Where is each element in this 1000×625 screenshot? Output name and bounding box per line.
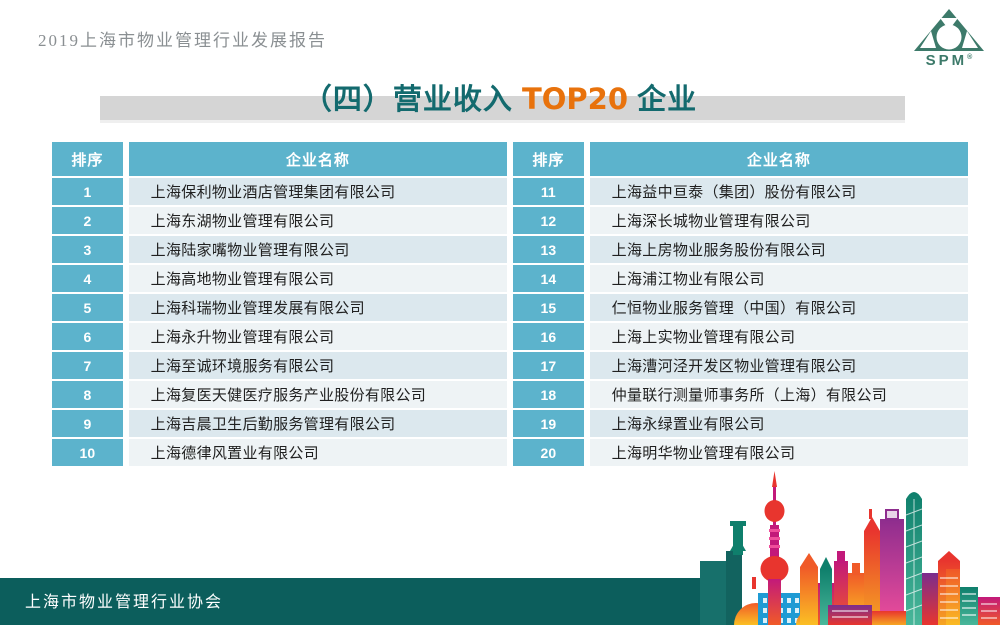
spm-triangle-icon (910, 6, 988, 54)
table-row: 6上海永升物业管理有限公司 (52, 323, 507, 350)
cell-rank: 2 (52, 207, 129, 234)
cell-company-name: 上海复医天健医疗服务产业股份有限公司 (129, 381, 507, 408)
cell-company-name: 上海至诚环境服务有限公司 (129, 352, 507, 379)
table-row: 16上海上实物业管理有限公司 (513, 323, 968, 350)
table-row: 4上海高地物业管理有限公司 (52, 265, 507, 292)
table-row: 18仲量联行测量师事务所（上海）有限公司 (513, 381, 968, 408)
table-row: 7上海至诚环境服务有限公司 (52, 352, 507, 379)
table-row: 2上海东湖物业管理有限公司 (52, 207, 507, 234)
table-row: 12上海深长城物业管理有限公司 (513, 207, 968, 234)
cell-rank: 3 (52, 236, 129, 263)
registered-mark: ® (967, 54, 972, 61)
column-header-rank: 排序 (513, 142, 590, 176)
cell-company-name: 上海东湖物业管理有限公司 (129, 207, 507, 234)
cell-rank: 5 (52, 294, 129, 321)
table-row: 17上海漕河泾开发区物业管理有限公司 (513, 352, 968, 379)
page-title-suffix: 企业 (628, 84, 697, 116)
cell-rank: 12 (513, 207, 590, 234)
table-right-body: 11上海益中亘泰（集团）股份有限公司12上海深长城物业管理有限公司13上海上房物… (513, 178, 968, 466)
slide-running-header: 2019上海市物业管理行业发展报告 (38, 26, 327, 51)
cell-rank: 14 (513, 265, 590, 292)
cell-company-name: 上海明华物业管理有限公司 (590, 439, 968, 466)
cell-company-name: 上海益中亘泰（集团）股份有限公司 (590, 178, 968, 205)
cell-rank: 10 (52, 439, 129, 466)
cell-company-name: 上海德律风置业有限公司 (129, 439, 507, 466)
spm-logo: SPM® (910, 6, 988, 72)
cell-rank: 7 (52, 352, 129, 379)
table-row: 20上海明华物业管理有限公司 (513, 439, 968, 466)
cell-company-name: 上海漕河泾开发区物业管理有限公司 (590, 352, 968, 379)
cell-rank: 6 (52, 323, 129, 350)
ranking-table-left: 排序 企业名称 1上海保利物业酒店管理集团有限公司2上海东湖物业管理有限公司3上… (52, 140, 507, 468)
column-header-rank: 排序 (52, 142, 129, 176)
table-row: 14上海浦江物业有限公司 (513, 265, 968, 292)
table-row: 9上海吉晨卫生后勤服务管理有限公司 (52, 410, 507, 437)
table-right-head: 排序 企业名称 (513, 142, 968, 176)
cell-company-name: 上海上房物业服务股份有限公司 (590, 236, 968, 263)
cell-company-name: 上海陆家嘴物业管理有限公司 (129, 236, 507, 263)
cell-company-name: 上海永升物业管理有限公司 (129, 323, 507, 350)
column-header-name: 企业名称 (129, 142, 507, 176)
table-left-head: 排序 企业名称 (52, 142, 507, 176)
table-row: 8上海复医天健医疗服务产业股份有限公司 (52, 381, 507, 408)
cell-rank: 20 (513, 439, 590, 466)
cell-company-name: 仁恒物业服务管理（中国）有限公司 (590, 294, 968, 321)
cell-rank: 13 (513, 236, 590, 263)
table-row: 13上海上房物业服务股份有限公司 (513, 236, 968, 263)
table-row: 19上海永绿置业有限公司 (513, 410, 968, 437)
table-row: 5上海科瑞物业管理发展有限公司 (52, 294, 507, 321)
page-title-highlight: TOP20 (522, 82, 628, 116)
cell-rank: 8 (52, 381, 129, 408)
cell-rank: 15 (513, 294, 590, 321)
page-title-prefix: （四）营业收入 (303, 84, 522, 116)
table-row: 15仁恒物业服务管理（中国）有限公司 (513, 294, 968, 321)
table-row: 10上海德律风置业有限公司 (52, 439, 507, 466)
cell-company-name: 上海高地物业管理有限公司 (129, 265, 507, 292)
ranking-table-right: 排序 企业名称 11上海益中亘泰（集团）股份有限公司12上海深长城物业管理有限公… (513, 140, 968, 468)
table-left-body: 1上海保利物业酒店管理集团有限公司2上海东湖物业管理有限公司3上海陆家嘴物业管理… (52, 178, 507, 466)
table-row: 11上海益中亘泰（集团）股份有限公司 (513, 178, 968, 205)
cell-rank: 18 (513, 381, 590, 408)
cell-rank: 19 (513, 410, 590, 437)
cell-company-name: 上海保利物业酒店管理集团有限公司 (129, 178, 507, 205)
cell-company-name: 上海深长城物业管理有限公司 (590, 207, 968, 234)
spm-wordmark-text: SPM (926, 52, 968, 69)
shanghai-skyline-illustration (700, 465, 1000, 625)
footer-association-name: 上海市物业管理行业协会 (25, 588, 223, 612)
page-title: （四）营业收入 TOP20 企业 (0, 76, 1000, 118)
cell-rank: 16 (513, 323, 590, 350)
cell-company-name: 上海永绿置业有限公司 (590, 410, 968, 437)
cell-rank: 9 (52, 410, 129, 437)
table-row: 1上海保利物业酒店管理集团有限公司 (52, 178, 507, 205)
cell-company-name: 上海科瑞物业管理发展有限公司 (129, 294, 507, 321)
cell-company-name: 仲量联行测量师事务所（上海）有限公司 (590, 381, 968, 408)
cell-company-name: 上海吉晨卫生后勤服务管理有限公司 (129, 410, 507, 437)
cell-company-name: 上海上实物业管理有限公司 (590, 323, 968, 350)
cell-rank: 4 (52, 265, 129, 292)
cell-rank: 17 (513, 352, 590, 379)
title-band-shadow (100, 120, 905, 123)
cell-rank: 11 (513, 178, 590, 205)
table-row: 3上海陆家嘴物业管理有限公司 (52, 236, 507, 263)
cell-rank: 1 (52, 178, 129, 205)
spm-wordmark: SPM® (910, 52, 988, 69)
cell-company-name: 上海浦江物业有限公司 (590, 265, 968, 292)
column-header-name: 企业名称 (590, 142, 968, 176)
table-header-row: 排序 企业名称 (513, 142, 968, 176)
table-header-row: 排序 企业名称 (52, 142, 507, 176)
